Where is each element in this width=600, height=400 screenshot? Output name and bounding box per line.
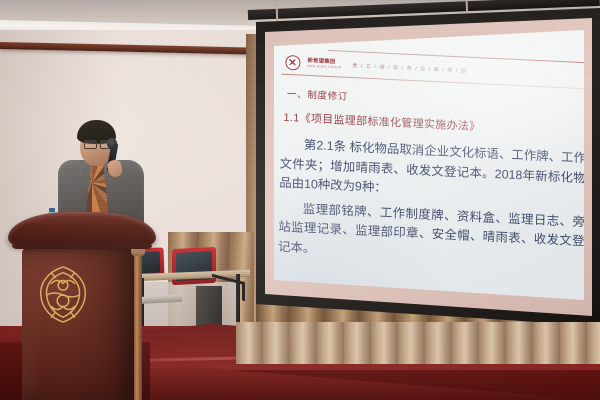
slide-header-tagline: 责 / 立 / 诚 / 信 / 务 / 实 / 高 / 效 / 创 [352, 62, 467, 75]
slide-subheading: 1.1《项目监理部标准化管理实施办法》 [283, 109, 480, 134]
presentation-photo-scene: 新希望集团NEW HOPE GROUP 责 / 立 / 诚 / 信 / 务 / … [0, 0, 600, 400]
slide: 新希望集团NEW HOPE GROUP 责 / 立 / 诚 / 信 / 务 / … [263, 30, 598, 304]
computer-tower [196, 286, 222, 326]
gold-arabesque-ornament-icon [34, 264, 92, 324]
podium-top-surface [8, 212, 156, 246]
projection-screen: 新希望集团NEW HOPE GROUP 责 / 立 / 诚 / 信 / 务 / … [248, 8, 600, 352]
podium-side-post [134, 252, 142, 400]
slide-plane: 新希望集团NEW HOPE GROUP 责 / 立 / 诚 / 信 / 务 / … [263, 30, 598, 304]
slide-logo-name: 新希望集团NEW HOPE GROUP [307, 58, 341, 70]
slide-paragraph: 监理部铭牌、工作制度牌、资料盒、监理日志、旁站监理记录、监理部印章、安全帽、晴雨… [278, 198, 585, 271]
slide-logo-subname: NEW HOPE GROUP [307, 65, 341, 70]
curtain-floor-drape [236, 322, 600, 364]
podium [8, 212, 160, 400]
screen-hanger-right [465, 0, 468, 13]
slide-heading: 一、制度修订 [287, 86, 348, 103]
slide-paragraph: 第2.1条 标化物品取消企业文化标语、工作牌、工作文件夹；增加晴雨表、收发文登记… [279, 135, 586, 208]
company-seal-logo-icon [285, 55, 300, 71]
screen-hanger-left [276, 5, 279, 21]
slide-body: 第2.1条 标化物品取消企业文化标语、工作牌、工作文件夹；增加晴雨表、收发文登记… [278, 135, 586, 277]
